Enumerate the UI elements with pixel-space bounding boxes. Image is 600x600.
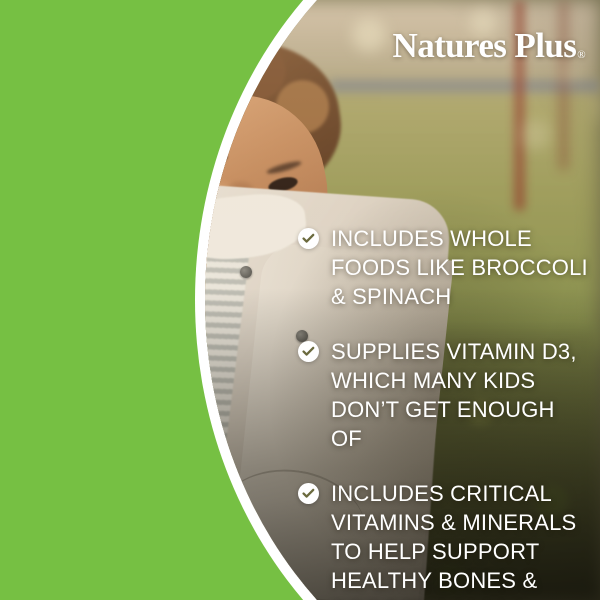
list-item-label: SUPPLIES VITAMIN D3, WHICH MANY KIDS DON… (331, 337, 590, 453)
list-item: INCLUDES WHOLE FOODS LIKE BROCCOLI & SPI… (298, 224, 590, 311)
list-item-label: INCLUDES CRITICAL VITAMINS & MINERALS TO… (331, 479, 590, 600)
bokeh-light (352, 18, 386, 52)
check-circle-icon (298, 483, 319, 504)
check-circle-icon (298, 228, 319, 249)
brand-logo: Natures Plus® (393, 28, 584, 63)
list-item: INCLUDES CRITICAL VITAMINS & MINERALS TO… (298, 479, 590, 600)
brand-logo-text: Natures Plus (393, 26, 577, 65)
list-item: SUPPLIES VITAMIN D3, WHICH MANY KIDS DON… (298, 337, 590, 453)
bokeh-light (556, 62, 578, 84)
benefits-list: INCLUDES WHOLE FOODS LIKE BROCCOLI & SPI… (298, 224, 590, 600)
registered-trademark-icon: ® (577, 49, 585, 61)
bokeh-light (520, 120, 550, 150)
jacket-snap-button (240, 266, 252, 278)
list-item-label: INCLUDES WHOLE FOODS LIKE BROCCOLI & SPI… (331, 224, 590, 311)
check-circle-icon (298, 341, 319, 362)
marketing-banner: Natures Plus® INCLUDES WHOLE FOODS LIKE … (0, 0, 600, 600)
